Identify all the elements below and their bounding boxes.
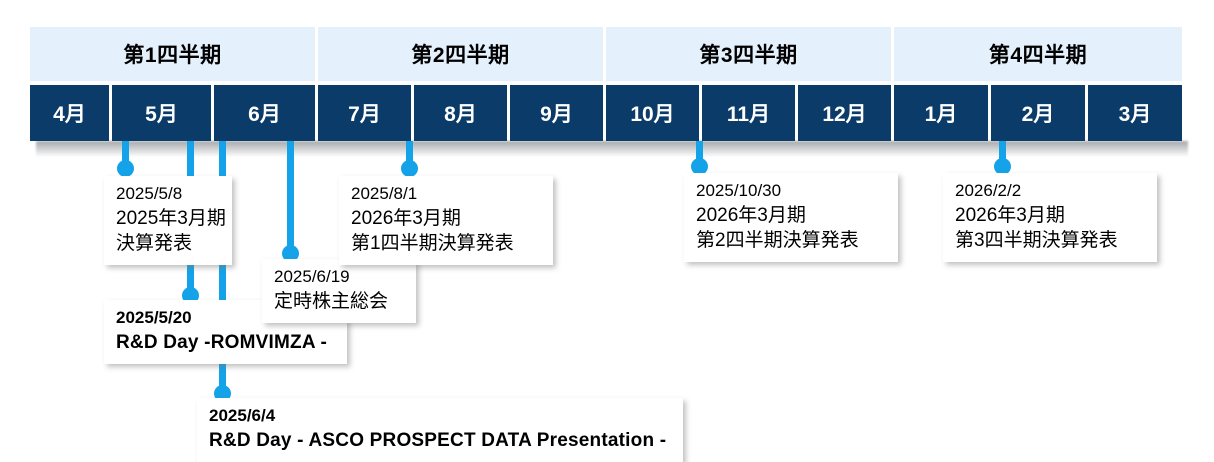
- connector-dot-fy2025-results: [117, 160, 134, 177]
- quarter-header-q3: 第3四半期: [606, 27, 891, 81]
- month-cell-sep: 9月: [510, 85, 603, 141]
- month-cell-jun: 6月: [214, 85, 315, 141]
- month-group-q4: 1月 2月 3月: [894, 85, 1182, 141]
- callout-line2-fy2026-q1-results: 第1四半期決算発表: [351, 231, 541, 256]
- callout-line1-fy2026-q3-results: 2026年3月期: [955, 203, 1145, 228]
- month-cell-jul: 7月: [318, 85, 411, 141]
- callout-line1-fy2026-q1-results: 2026年3月期: [351, 206, 541, 231]
- month-group-q2: 7月 8月 9月: [318, 85, 603, 141]
- connector-dot-fy2026-q1-results: [401, 160, 418, 177]
- callout-fy2025-results: 2025/5/8 2025年3月期 決算発表: [104, 176, 232, 265]
- callout-line1-rd-day-romvimza: R&D Day -ROMVIMZA -: [116, 330, 335, 355]
- callout-fy2026-q1-results: 2025/8/1 2026年3月期 第1四半期決算発表: [339, 176, 553, 265]
- callout-rd-day-asco: 2025/6/4 R&D Day - ASCO PROSPECT DATA Pr…: [197, 398, 683, 462]
- month-cell-jan: 1月: [894, 85, 988, 141]
- callout-fy2026-q2-results: 2025/10/30 2026年3月期 第2四半期決算発表: [684, 173, 898, 262]
- quarter-header-q4: 第4四半期: [894, 27, 1182, 81]
- month-cell-mar: 3月: [1088, 85, 1182, 141]
- callout-date-rd-day-asco: 2025/6/4: [209, 405, 671, 428]
- table-drop-shadow: [36, 141, 1188, 157]
- callout-date-fy2026-q1-results: 2025/8/1: [351, 183, 541, 206]
- callout-date-fy2026-q3-results: 2026/2/2: [955, 180, 1145, 203]
- callout-fy2026-q3-results: 2026/2/2 2026年3月期 第3四半期決算発表: [943, 173, 1157, 262]
- callout-date-fy2025-results: 2025/5/8: [116, 183, 220, 206]
- callout-line2-fy2025-results: 決算発表: [116, 231, 220, 256]
- month-group-q3: 10月 11月 12月: [606, 85, 891, 141]
- callout-line1-fy2026-q2-results: 2026年3月期: [696, 203, 886, 228]
- timeline-diagram: 第1四半期 第2四半期 第3四半期 第4四半期 4月 5月 6月 7月 8月 9…: [0, 0, 1214, 459]
- callout-line1-shareholders-meeting: 定時株主総会: [274, 289, 404, 314]
- month-cell-aug: 8月: [414, 85, 507, 141]
- quarter-header-q1: 第1四半期: [30, 27, 315, 81]
- month-cell-may: 5月: [112, 85, 211, 141]
- callout-date-shareholders-meeting: 2025/6/19: [274, 266, 404, 289]
- month-cell-dec: 12月: [798, 85, 891, 141]
- month-cell-oct: 10月: [606, 85, 699, 141]
- month-cell-feb: 2月: [991, 85, 1085, 141]
- month-row: 4月 5月 6月 7月 8月 9月 10月 11月 12月 1月 2月 3月: [30, 85, 1185, 141]
- quarter-header-q2: 第2四半期: [318, 27, 603, 81]
- quarter-row: 第1四半期 第2四半期 第3四半期 第4四半期: [30, 27, 1185, 81]
- callout-line2-fy2026-q3-results: 第3四半期決算発表: [955, 228, 1145, 253]
- connector-line-shareholders-meeting: [287, 141, 294, 256]
- month-cell-apr: 4月: [30, 85, 109, 141]
- callout-date-fy2026-q2-results: 2025/10/30: [696, 180, 886, 203]
- month-cell-nov: 11月: [702, 85, 795, 141]
- callout-shareholders-meeting: 2025/6/19 定時株主総会: [262, 259, 416, 323]
- callout-line1-rd-day-asco: R&D Day - ASCO PROSPECT DATA Presentatio…: [209, 428, 671, 453]
- month-group-q1: 4月 5月 6月: [30, 85, 315, 141]
- callout-line2-fy2026-q2-results: 第2四半期決算発表: [696, 228, 886, 253]
- fiscal-timeline-header: 第1四半期 第2四半期 第3四半期 第4四半期 4月 5月 6月 7月 8月 9…: [30, 27, 1185, 141]
- callout-line1-fy2025-results: 2025年3月期: [116, 206, 220, 231]
